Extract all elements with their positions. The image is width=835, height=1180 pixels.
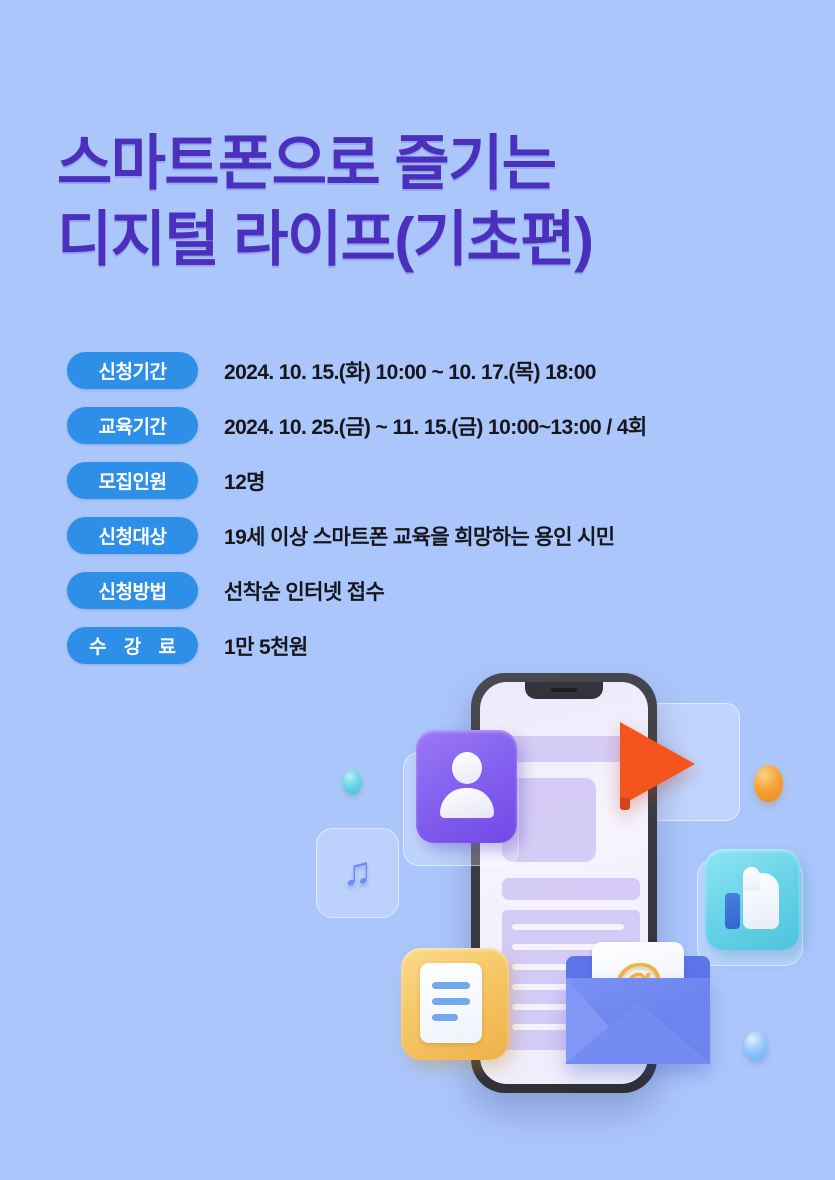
orange-sphere-icon [754, 765, 783, 802]
email-envelope-icon: @ [566, 948, 710, 1072]
screen-block-1 [502, 736, 640, 762]
title-line-1: 스마트폰으로 즐기는 [57, 126, 757, 202]
person-head [452, 752, 482, 784]
play-button-icon [620, 722, 695, 806]
info-row-capacity: 모집인원 12명 [67, 461, 787, 500]
glass-panel-play [596, 703, 740, 821]
value-application-method: 선착순 인터넷 접수 [224, 576, 384, 606]
music-note-icon: ♫ [343, 851, 373, 891]
title-line-2: 디지털 라이프(기초편) [57, 202, 757, 278]
value-capacity: 12명 [224, 466, 265, 496]
thumb-digit [743, 867, 760, 891]
envelope-fold [565, 1002, 711, 1064]
envelope-back [566, 956, 710, 1064]
person-contact-card-icon [416, 730, 517, 843]
glass-panel-thumb [697, 858, 803, 966]
poster-title: 스마트폰으로 즐기는 디지털 라이프(기초편) [57, 126, 757, 277]
at-symbol-icon: @ [613, 957, 664, 1009]
glass-panel-person [403, 752, 519, 866]
info-row-application-method: 신청방법 선착순 인터넷 접수 [67, 571, 787, 610]
info-row-fee: 수 강 료 1만 5천원 [67, 626, 787, 665]
label-pill-application-method: 신청방법 [67, 572, 198, 609]
thumb-hand [743, 873, 779, 929]
value-fee: 1만 5천원 [224, 631, 308, 661]
phone-screen [480, 682, 648, 1084]
value-training-period: 2024. 10. 25.(금) ~ 11. 15.(금) 10:00~13:0… [224, 411, 647, 441]
screen-block-2 [502, 778, 596, 862]
envelope-flap-right [634, 978, 710, 1064]
phone-notch [525, 682, 603, 699]
info-row-application-period: 신청기간 2024. 10. 15.(화) 10:00 ~ 10. 17.(목)… [67, 351, 787, 390]
envelope-letter: @ [592, 942, 684, 1028]
screen-text-panel [502, 910, 640, 1050]
smartphone-icon [471, 673, 657, 1093]
document-page [420, 963, 482, 1043]
label-pill-eligibility: 신청대상 [67, 517, 198, 554]
label-pill-application-period: 신청기간 [67, 352, 198, 389]
label-pill-training-period: 교육기간 [67, 407, 198, 444]
course-info-list: 신청기간 2024. 10. 15.(화) 10:00 ~ 10. 17.(목)… [67, 351, 787, 681]
label-pill-fee: 수 강 료 [67, 627, 198, 664]
document-line-1 [432, 982, 470, 989]
envelope-body [566, 978, 710, 1064]
blue-sphere-icon [744, 1031, 768, 1061]
person-body [440, 788, 494, 818]
cyan-sphere-icon [343, 770, 362, 794]
info-row-eligibility: 신청대상 19세 이상 스마트폰 교육을 희망하는 용인 시민 [67, 516, 787, 555]
screen-block-3 [502, 878, 640, 900]
thumb-bar [725, 893, 740, 929]
thumbs-up-card-icon [705, 849, 800, 950]
document-line-3 [432, 1014, 458, 1021]
value-application-period: 2024. 10. 15.(화) 10:00 ~ 10. 17.(목) 18:0… [224, 356, 596, 386]
music-note-card: ♫ [316, 828, 399, 918]
document-card-icon [401, 948, 509, 1060]
envelope-flap-left [566, 978, 642, 1064]
document-line-2 [432, 998, 470, 1005]
label-pill-capacity: 모집인원 [67, 462, 198, 499]
value-eligibility: 19세 이상 스마트폰 교육을 희망하는 용인 시민 [224, 521, 615, 551]
promo-poster: 스마트폰으로 즐기는 디지털 라이프(기초편) 신청기간 2024. 10. 1… [0, 0, 835, 1180]
info-row-training-period: 교육기간 2024. 10. 25.(금) ~ 11. 15.(금) 10:00… [67, 406, 787, 445]
